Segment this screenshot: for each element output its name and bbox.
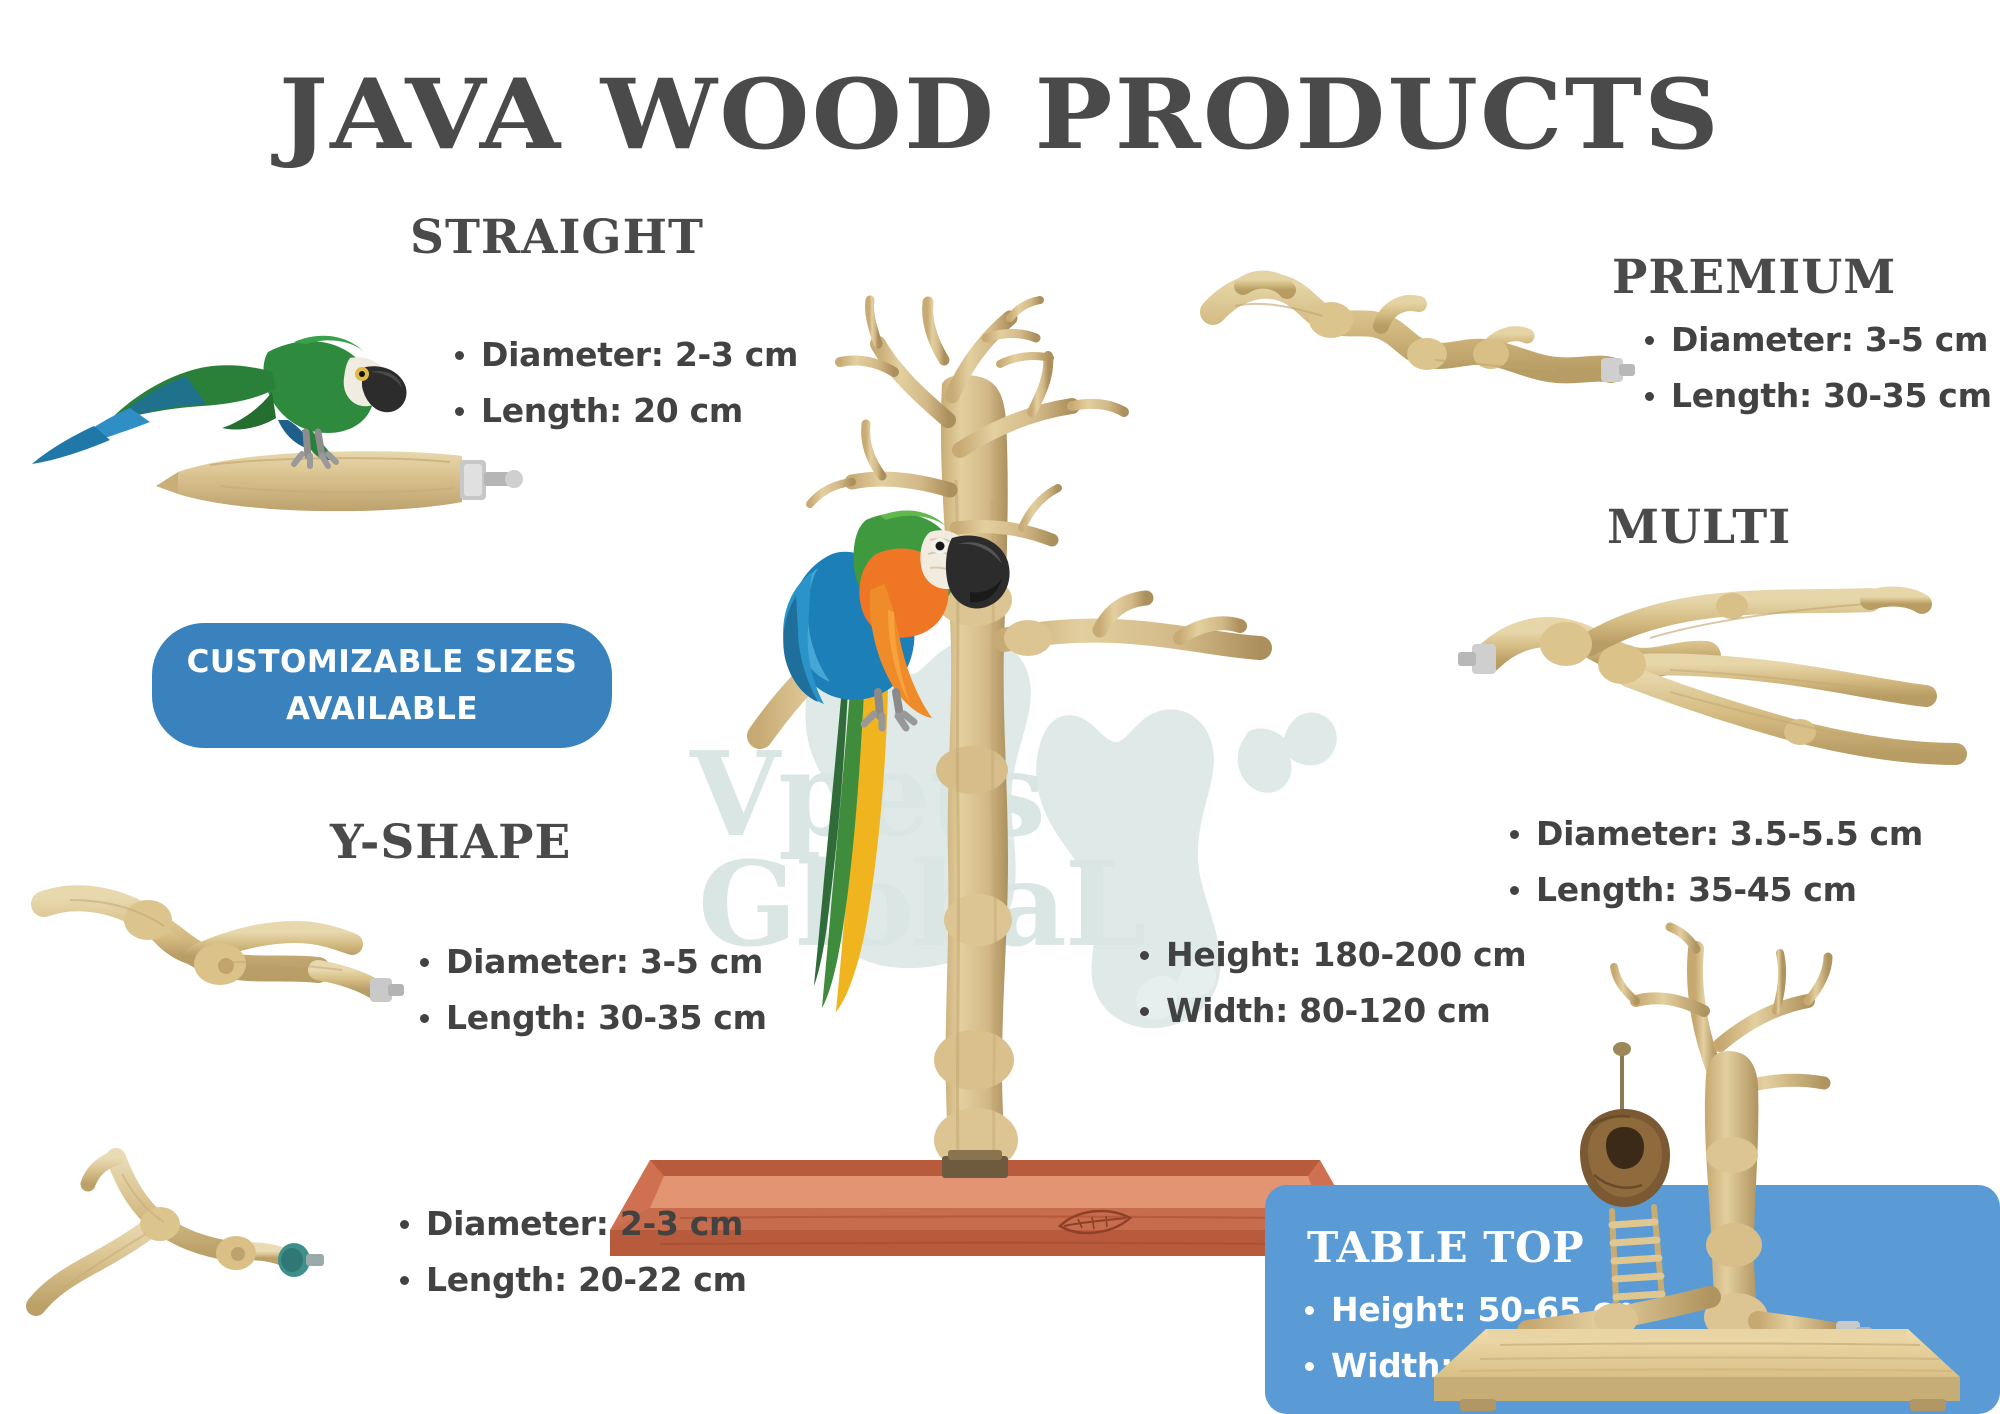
bullets-y-shape-small: Diameter: 2-3 cm Length: 20-22 cm [400, 1207, 747, 1319]
bullet-dot-icon [400, 1276, 409, 1285]
bullet-item: Length: 20 cm [455, 394, 798, 427]
bullet-dot-icon [1645, 392, 1654, 401]
bullet-dot-icon [420, 958, 429, 967]
bullet-item: Width: 80-120 cm [1140, 994, 1526, 1027]
bullet-text: Length: 35-45 cm [1536, 873, 1857, 906]
bullet-dot-icon [455, 407, 464, 416]
bullet-item: Height: 180-200 cm [1140, 938, 1526, 971]
bullets-straight: Diameter: 2-3 cm Length: 20 cm [455, 338, 798, 450]
heading-y-shape: Y-SHAPE [330, 815, 571, 870]
bullet-item: Length: 35-45 cm [1510, 873, 1923, 906]
bullet-dot-icon [455, 351, 464, 360]
multi-branch-image [1470, 570, 2000, 800]
bullet-text: Height: 180-200 cm [1166, 938, 1526, 971]
bullets-floor-stand: Height: 180-200 cm Width: 80-120 cm [1140, 938, 1526, 1050]
bullet-text: Length: 20-22 cm [426, 1263, 747, 1296]
bullet-item: Length: 20-22 cm [400, 1263, 747, 1296]
heading-straight: STRAIGHT [410, 210, 704, 265]
customizable-sizes-badge[interactable]: CUSTOMIZABLE SIZES AVAILABLE [152, 623, 612, 748]
bullet-text: Diameter: 2-3 cm [426, 1207, 743, 1240]
page-title: JAVA WOOD PRODUCTS [0, 58, 2000, 171]
bullet-text: Diameter: 3-5 cm [446, 945, 763, 978]
bullet-dot-icon [1140, 951, 1149, 960]
y-shape-small-branch-image [30, 1140, 400, 1340]
bullet-item: Diameter: 3-5 cm [1645, 323, 1992, 356]
bullet-item: Diameter: 3.5-5.5 cm [1510, 817, 1923, 850]
bullet-text: Diameter: 3-5 cm [1671, 323, 1988, 356]
bullet-dot-icon [1510, 830, 1519, 839]
bullets-multi: Diameter: 3.5-5.5 cm Length: 35-45 cm [1510, 817, 1923, 929]
bullets-premium: Diameter: 3-5 cm Length: 30-35 cm [1645, 323, 1992, 435]
bullet-dot-icon [1140, 1007, 1149, 1016]
bullet-item: Diameter: 2-3 cm [455, 338, 798, 371]
bullet-dot-icon [1305, 1362, 1314, 1371]
bullet-text: Width: 80-120 cm [1166, 994, 1490, 1027]
bullet-item: Diameter: 3-5 cm [420, 945, 767, 978]
floor-stand-tree-image [760, 300, 1440, 1300]
heading-multi: MULTI [1607, 500, 1791, 555]
bullet-text: Diameter: 3.5-5.5 cm [1536, 817, 1923, 850]
bullet-dot-icon [420, 1014, 429, 1023]
bullet-item: Length: 30-35 cm [420, 1001, 767, 1034]
bullet-text: Length: 30-35 cm [1671, 379, 1992, 412]
bullet-text: Diameter: 2-3 cm [481, 338, 798, 371]
bullet-text: Length: 30-35 cm [446, 1001, 767, 1034]
bullet-dot-icon [1305, 1306, 1314, 1315]
bullet-dot-icon [1510, 886, 1519, 895]
badge-line1: CUSTOMIZABLE SIZES [187, 639, 578, 686]
bullet-text: Length: 20 cm [481, 394, 743, 427]
bullets-y-shape: Diameter: 3-5 cm Length: 30-35 cm [420, 945, 767, 1057]
bullet-dot-icon [1645, 336, 1654, 345]
infographic-poster: Vpets GlobaL JAVA WOOD PRODUCTS STRAIGHT… [0, 0, 2000, 1414]
bullet-item: Diameter: 2-3 cm [400, 1207, 747, 1240]
table-top-stand-image [1520, 925, 2000, 1405]
bullet-dot-icon [400, 1220, 409, 1229]
y-shape-branch-image [30, 870, 430, 1050]
bullet-item: Length: 30-35 cm [1645, 379, 1992, 412]
heading-premium: PREMIUM [1612, 250, 1896, 305]
badge-line2: AVAILABLE [286, 686, 478, 733]
